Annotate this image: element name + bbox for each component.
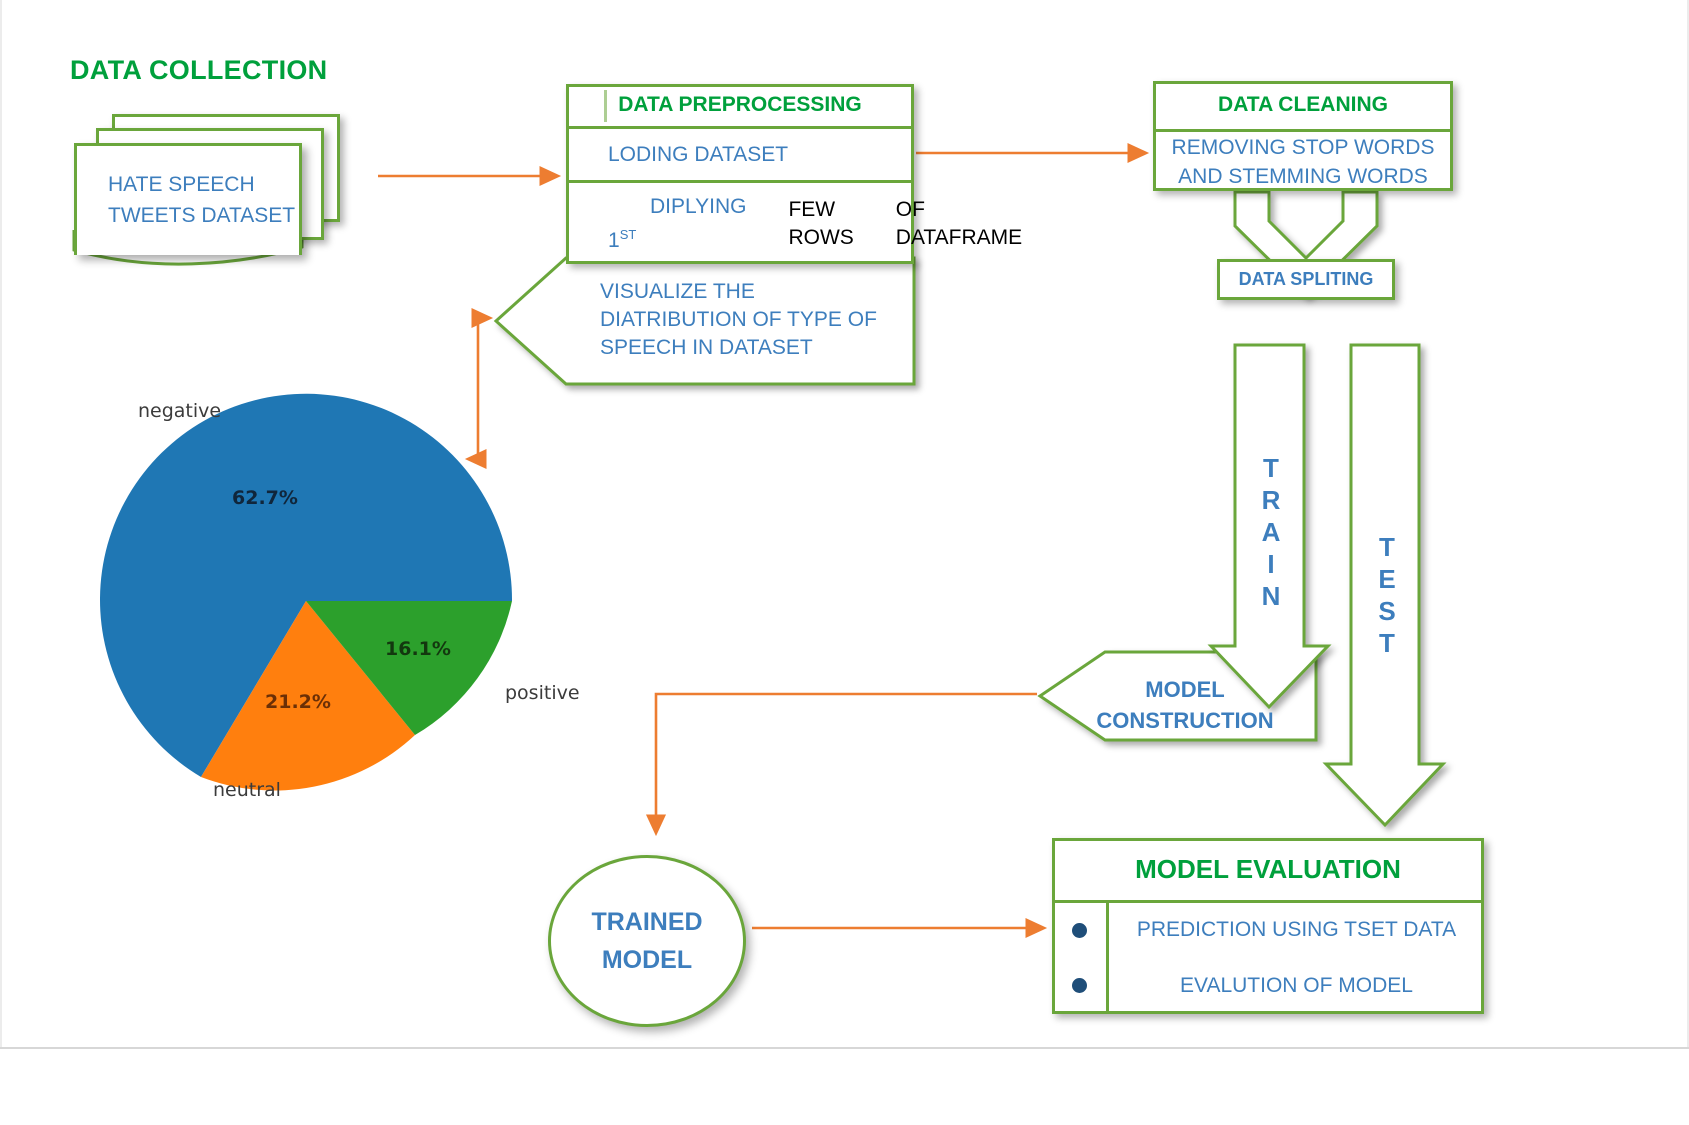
display-rows-part1: DIPLYING 1 xyxy=(608,195,746,252)
visualize-line1: VISUALIZE THE xyxy=(600,278,900,306)
display-rows-part2: FEW ROWS xyxy=(746,196,853,252)
arrow-construction-to-trained-model xyxy=(656,694,1037,833)
dataset-label-line2: TWEETS DATASET xyxy=(108,200,300,231)
evaluation-bullet-cell-2 xyxy=(1052,957,1109,1014)
evaluation-bullet-cell-1 xyxy=(1052,903,1109,957)
sentiment-pie-chart xyxy=(100,394,512,791)
flowchart-canvas: DATA COLLECTION HATE SPEECH TWEETS DATAS… xyxy=(0,0,1689,1125)
visualize-line3: SPEECH IN DATASET xyxy=(600,334,900,362)
display-rows-ordinal: ST xyxy=(620,227,637,242)
data-cleaning-body: REMOVING STOP WORDS AND STEMMING WORDS xyxy=(1153,129,1453,191)
dataset-label: HATE SPEECH TWEETS DATASET xyxy=(90,155,300,245)
pie-value-neutral: 21.2% xyxy=(265,691,331,713)
model-construction-label: MODEL CONSTRUCTION xyxy=(1060,660,1310,750)
cleaning-line1: REMOVING STOP WORDS xyxy=(1172,136,1435,159)
data-preprocessing-title: DATA PREPROCESSING xyxy=(566,84,914,126)
evaluation-item-row-1: PREDICTION USING TSET DATA xyxy=(1052,900,1484,957)
train-letter-i: I xyxy=(1267,548,1274,580)
test-arrow-label: T E S T xyxy=(1348,530,1426,660)
pie-label-negative: negative xyxy=(138,400,221,422)
model-construction-line2: CONSTRUCTION xyxy=(1096,705,1273,736)
pie-slice-positive xyxy=(306,601,512,735)
model-evaluation-title: MODEL EVALUATION xyxy=(1052,838,1484,900)
train-letter-a: A xyxy=(1262,516,1281,548)
preprocessing-step-loading-label: LODING DATASET xyxy=(566,143,788,167)
pie-label-neutral: neutral xyxy=(213,779,281,801)
page-bottom-divider xyxy=(0,1047,1689,1049)
pie-value-negative: 62.7% xyxy=(232,487,298,509)
evaluation-item-label-2: EVALUTION OF MODEL xyxy=(1109,957,1484,1014)
train-letter-r: R xyxy=(1262,484,1281,516)
preprocessing-step-display-rows: DIPLYING 1ST FEW ROWS OF DATAFRAME xyxy=(566,180,914,264)
trained-model-label: TRAINED MODEL xyxy=(548,855,746,1027)
preprocessing-step-loading: LODING DATASET xyxy=(566,126,914,180)
data-splitting-label: DATA SPLITING xyxy=(1239,269,1374,290)
data-splitting-box: DATA SPLITING xyxy=(1217,259,1395,300)
pie-value-positive: 16.1% xyxy=(385,638,451,660)
display-rows-line2: OF DATAFRAME xyxy=(854,196,1022,252)
page-title: DATA COLLECTION xyxy=(70,55,327,86)
train-arrow-label: T R A I N xyxy=(1232,452,1310,612)
bullet-dot-icon xyxy=(1072,923,1087,938)
bullet-dot-icon xyxy=(1072,978,1087,993)
model-construction-line1: MODEL xyxy=(1145,674,1224,705)
pie-slice-negative xyxy=(100,394,512,777)
page-left-divider xyxy=(0,0,2,1047)
evaluation-item-row-2: EVALUTION OF MODEL xyxy=(1052,957,1484,1014)
cleaning-line2: AND STEMMING WORDS xyxy=(1178,165,1428,188)
preprocessing-step-display-rows-label: DIPLYING 1ST xyxy=(566,193,746,255)
data-cleaning-title: DATA CLEANING xyxy=(1153,81,1453,129)
test-letter-t2: T xyxy=(1379,627,1395,659)
visualize-distribution-label: VISUALIZE THE DIATRIBUTION OF TYPE OF SP… xyxy=(600,264,900,376)
visualize-line2: DIATRIBUTION OF TYPE OF xyxy=(600,306,900,334)
pie-label-positive: positive xyxy=(505,682,580,704)
trained-model-line2: MODEL xyxy=(602,941,692,979)
arrow-visualize-to-pie-tail xyxy=(468,318,478,459)
test-letter-s: S xyxy=(1378,595,1395,627)
dataset-label-line1: HATE SPEECH xyxy=(108,169,300,200)
trained-model-line1: TRAINED xyxy=(591,903,702,941)
test-letter-t1: T xyxy=(1379,531,1395,563)
train-letter-n: N xyxy=(1262,580,1281,612)
test-letter-e: E xyxy=(1378,563,1395,595)
train-letter-t: T xyxy=(1263,452,1279,484)
evaluation-item-label-1: PREDICTION USING TSET DATA xyxy=(1109,903,1484,957)
preprocessing-tick-mark xyxy=(604,90,607,122)
